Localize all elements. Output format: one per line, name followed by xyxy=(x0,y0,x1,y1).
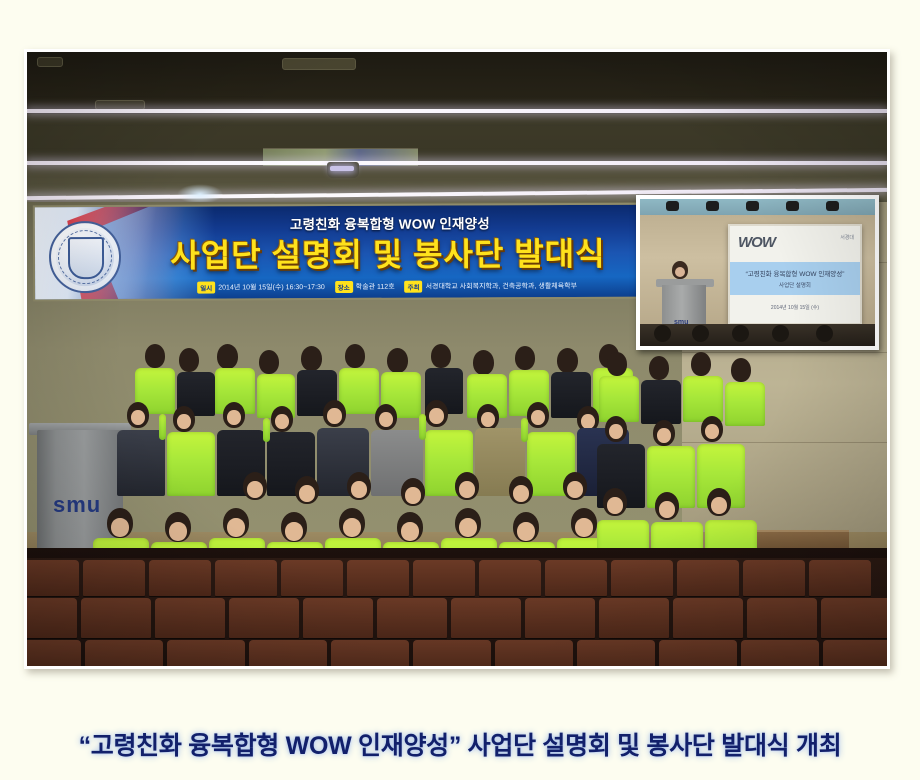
inset-ceiling-light xyxy=(786,201,799,211)
slide-title-line1: “고령친화 융복합형 WOW 인재양성” xyxy=(730,268,860,278)
ceiling-panel-upper xyxy=(27,52,887,109)
seat xyxy=(229,598,299,638)
inset-photo: WOW 서경대 “고령친화 융복합형 WOW 인재양성” 사업단 설명회 201… xyxy=(636,195,879,350)
person-face xyxy=(459,518,477,537)
banner-meta-row: 일시 2014년 10월 15일(수) 16:30~17:30 장소 학술관 1… xyxy=(143,280,631,294)
seat xyxy=(249,640,327,666)
inset-ceiling-light xyxy=(826,201,839,211)
inset-audience-head xyxy=(732,325,749,342)
banner-meta-value: 서경대학교 사회복지학과, 건축공학과, 생활체육학부 xyxy=(426,281,577,292)
person-face xyxy=(405,487,421,504)
seat xyxy=(525,598,595,638)
person-torso xyxy=(683,376,723,422)
seat xyxy=(377,598,447,638)
person-head xyxy=(431,344,451,368)
person-torso xyxy=(725,382,765,426)
banner-title: 사업단 설명회 및 봉사단 발대식 xyxy=(35,229,637,278)
person-face xyxy=(567,481,583,498)
slide-title-line2: 사업단 설명회 xyxy=(730,281,860,289)
slide-title-band: “고령친화 융복합형 WOW 인재양성” 사업단 설명회 xyxy=(730,262,860,295)
person-head xyxy=(473,350,494,375)
person-face xyxy=(513,485,529,502)
seat xyxy=(821,598,887,638)
inset-ceiling-light xyxy=(746,201,759,211)
inset-audience-row xyxy=(640,324,875,346)
inset-audience-head xyxy=(692,325,709,342)
seat xyxy=(599,598,669,638)
seat xyxy=(167,640,245,666)
person-torso xyxy=(117,430,165,496)
person-face xyxy=(351,481,367,498)
seat xyxy=(741,640,819,666)
ceiling-light-strip xyxy=(27,161,887,165)
banner-meta-host: 주최 서경대학교 사회복지학과, 건축공학과, 생활체육학부 xyxy=(405,280,577,293)
seat xyxy=(149,560,211,596)
person-face xyxy=(401,522,419,541)
seat xyxy=(413,560,475,596)
person-head xyxy=(387,348,408,373)
photo-caption: “고령친화 융복합형 WOW 인재양성” 사업단 설명회 및 봉사단 발대식 개… xyxy=(0,726,920,762)
banner-meta-location: 장소 학술관 112호 xyxy=(335,281,395,293)
person-face xyxy=(131,410,145,425)
person-arm xyxy=(263,418,270,442)
seat xyxy=(303,598,373,638)
person-face xyxy=(247,481,263,498)
inset-ceiling-light xyxy=(666,201,679,211)
seat xyxy=(81,598,151,638)
person-face xyxy=(227,518,245,537)
inset-audience-head xyxy=(654,325,671,342)
person-face xyxy=(531,410,545,425)
ceiling-vent xyxy=(37,57,63,67)
person-head xyxy=(217,344,238,369)
person-head xyxy=(345,344,365,368)
person-face xyxy=(607,497,623,514)
inset-ceiling-light xyxy=(706,201,719,211)
seat xyxy=(747,598,817,638)
seat xyxy=(677,560,739,596)
seat xyxy=(331,640,409,666)
person-face xyxy=(177,414,191,429)
person-face xyxy=(659,501,675,518)
inset-audience-head xyxy=(772,325,789,342)
seat xyxy=(743,560,805,596)
seat xyxy=(27,560,79,596)
banner-meta-datetime: 일시 2014년 10월 15일(수) 16:30~17:30 xyxy=(197,281,325,294)
seat xyxy=(83,560,145,596)
seat xyxy=(577,640,655,666)
seat xyxy=(85,640,163,666)
seat xyxy=(215,560,277,596)
seat xyxy=(823,640,887,666)
ceiling-vent xyxy=(282,58,356,70)
seat xyxy=(27,598,77,638)
ceiling-light-strip xyxy=(27,109,887,113)
person-face xyxy=(575,518,593,537)
person-face xyxy=(711,497,727,514)
person-face xyxy=(705,424,719,439)
person-torso xyxy=(599,376,639,422)
inset-audience-head xyxy=(816,325,833,342)
person-head xyxy=(301,346,322,371)
person-head xyxy=(649,356,669,380)
person-arm xyxy=(419,414,426,440)
inset-speaker-face xyxy=(675,267,685,277)
seat xyxy=(413,640,491,666)
seat xyxy=(495,640,573,666)
banner-meta-tag: 장소 xyxy=(335,281,353,293)
banner-meta-value: 학술관 112호 xyxy=(356,282,395,292)
person-head xyxy=(731,358,751,382)
banner-meta-tag: 주최 xyxy=(405,281,423,293)
seat xyxy=(659,640,737,666)
person-face xyxy=(581,414,595,429)
person-face xyxy=(343,518,361,537)
ceiling xyxy=(27,52,887,202)
person-face xyxy=(481,412,495,427)
slide-wow-logo: WOW xyxy=(738,234,775,251)
person-face xyxy=(657,428,671,443)
event-group-photo: 고령친화 융복합형 WOW 인재양성 사업단 설명회 및 봉사단 발대식 일시 … xyxy=(27,52,887,666)
person-face xyxy=(327,408,342,424)
person-face xyxy=(429,408,444,424)
person-face xyxy=(111,518,129,537)
person-face xyxy=(299,485,315,502)
person-head xyxy=(691,352,711,376)
seat xyxy=(479,560,541,596)
seat xyxy=(611,560,673,596)
seat xyxy=(347,560,409,596)
person-head xyxy=(515,346,535,370)
person-face xyxy=(285,522,303,541)
seat xyxy=(809,560,871,596)
event-banner: 고령친화 융복합형 WOW 인재양성 사업단 설명회 및 봉사단 발대식 일시 … xyxy=(33,203,643,302)
banner-meta-tag: 일시 xyxy=(197,282,215,294)
person-face xyxy=(379,412,393,427)
seat xyxy=(27,640,81,666)
person-face xyxy=(275,414,289,429)
seat xyxy=(451,598,521,638)
ceiling-projector xyxy=(327,162,359,178)
person-head xyxy=(557,348,578,373)
person-head xyxy=(607,352,627,376)
person-face xyxy=(459,481,475,498)
seat xyxy=(545,560,607,596)
seat xyxy=(155,598,225,638)
person-head xyxy=(259,350,279,374)
auditorium-seating xyxy=(27,548,887,666)
inset-photo-content: WOW 서경대 “고령친화 융복합형 WOW 인재양성” 사업단 설명회 201… xyxy=(640,199,875,346)
person-torso xyxy=(167,432,215,496)
person-arm xyxy=(521,418,528,442)
person-face xyxy=(609,424,623,439)
ceiling-spotlight-glow xyxy=(177,184,223,204)
person-head xyxy=(179,348,199,372)
seat xyxy=(281,560,343,596)
person-face xyxy=(517,522,535,541)
slide-corner-mark: 서경대 xyxy=(840,234,854,241)
person-torso xyxy=(641,380,681,424)
slide-footer: 2014년 10월 15일 (수) xyxy=(730,304,860,311)
projection-screen: WOW 서경대 “고령친화 융복합형 WOW 인재양성” 사업단 설명회 201… xyxy=(728,224,862,325)
photo-frame: 고령친화 융복합형 WOW 인재양성 사업단 설명회 및 봉사단 발대식 일시 … xyxy=(24,49,890,669)
person-face xyxy=(227,410,241,425)
person-head xyxy=(145,344,165,368)
person-arm xyxy=(159,414,166,440)
ceiling-panel-lower xyxy=(27,114,887,161)
person-face xyxy=(169,522,187,541)
banner-meta-value: 2014년 10월 15일(수) 16:30~17:30 xyxy=(218,282,325,292)
seat xyxy=(673,598,743,638)
